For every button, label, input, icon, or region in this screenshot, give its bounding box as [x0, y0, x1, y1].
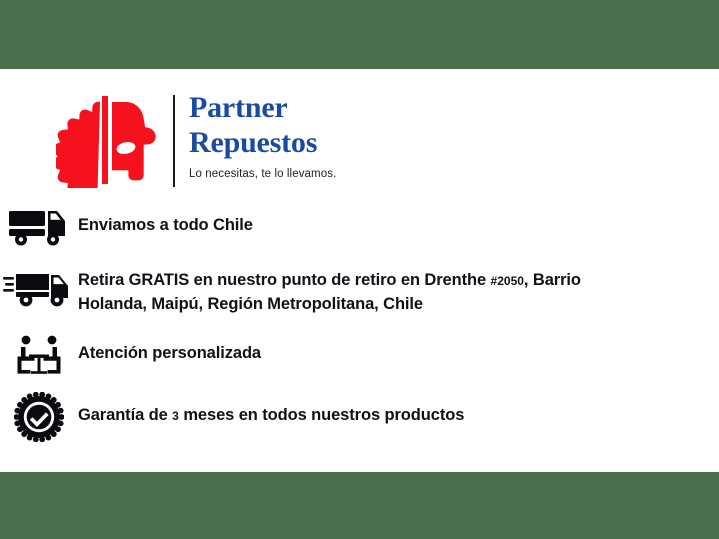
delivery-truck-icon [0, 204, 78, 250]
top-green-band [0, 0, 719, 69]
feature-label: Retira GRATIS en nuestro punto de retiro… [78, 266, 598, 316]
feature-row: Enviamos a todo Chile [0, 204, 719, 254]
logo-divider [173, 95, 175, 187]
brand-name-line-1: Partner [189, 90, 659, 125]
bottom-green-band [0, 472, 719, 539]
feature-text-part: Garantía de [78, 406, 172, 424]
feature-row: Retira GRATIS en nuestro punto de retiro… [0, 266, 719, 324]
warranty-badge-check-icon [0, 394, 78, 440]
promo-banner: Partner Repuestos Lo necesitas, te lo ll… [0, 0, 719, 539]
feature-label: Atención personalizada [78, 332, 261, 365]
feature-text-part: meses en todos nuestros productos [179, 406, 464, 424]
feature-text-part: Enviamos a todo Chile [78, 216, 253, 234]
feature-label: Garantía de 3 meses en todos nuestros pr… [78, 394, 464, 428]
brand-logo-block: Partner Repuestos Lo necesitas, te lo ll… [56, 92, 656, 192]
people-at-table-icon [0, 332, 78, 378]
moving-truck-icon [0, 266, 78, 312]
brand-name-line-2: Repuestos [189, 125, 659, 160]
gear-car-logo-icon [56, 92, 164, 188]
feature-text-part-number: 3 [172, 409, 179, 423]
feature-text-part-number: #2050 [491, 274, 524, 288]
feature-label: Enviamos a todo Chile [78, 204, 253, 237]
brand-text-block: Partner Repuestos Lo necesitas, te lo ll… [189, 90, 659, 180]
feature-row: Atención personalizada [0, 332, 719, 380]
feature-text-part: Retira GRATIS en nuestro punto de retiro… [78, 271, 491, 289]
brand-tagline: Lo necesitas, te lo llevamos. [189, 168, 659, 180]
feature-text-part: Atención personalizada [78, 344, 261, 362]
feature-row: Garantía de 3 meses en todos nuestros pr… [0, 394, 719, 446]
